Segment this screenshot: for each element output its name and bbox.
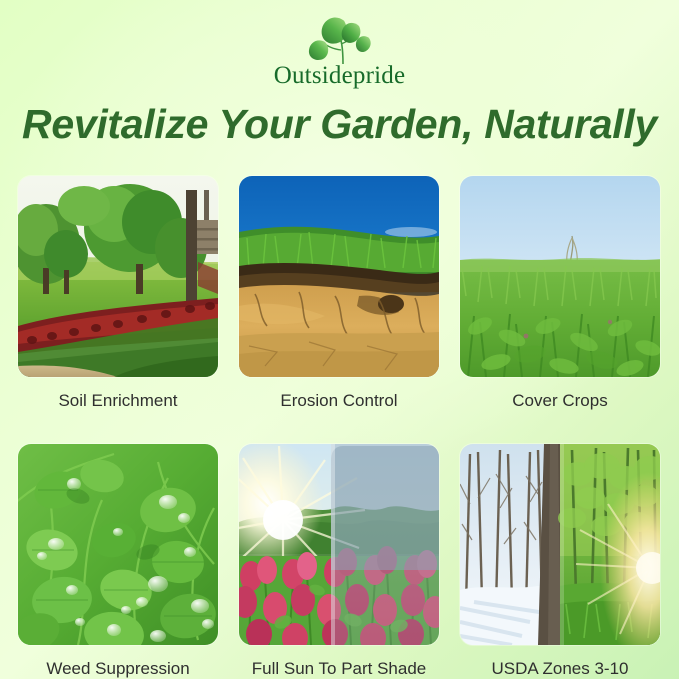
- feature-image-weed-suppression: [18, 444, 218, 645]
- feature-image-erosion-control: [239, 176, 439, 377]
- feature-image-soil-enrichment: [18, 176, 218, 377]
- promo-poster: Outsidepride Revitalize Your Garden, Nat…: [0, 0, 679, 679]
- feature-caption: Soil Enrichment: [18, 377, 218, 409]
- feature-card-full-sun-to-part-shade: Full Sun To Part Shade: [239, 444, 439, 677]
- leaf-sprig-icon: [303, 14, 377, 66]
- feature-caption: Erosion Control: [239, 377, 439, 409]
- feature-caption: Full Sun To Part Shade: [239, 645, 439, 677]
- feature-image-cover-crops: [460, 176, 660, 377]
- page-headline: Revitalize Your Garden, Naturally: [0, 101, 679, 148]
- feature-card-usda-zones: USDA Zones 3-10: [460, 444, 660, 677]
- feature-grid: Soil Enrichment: [18, 176, 661, 677]
- feature-card-erosion-control: Erosion Control: [239, 176, 439, 409]
- feature-image-full-sun-to-part-shade: [239, 444, 439, 645]
- feature-caption: Cover Crops: [460, 377, 660, 409]
- feature-card-cover-crops: Cover Crops: [460, 176, 660, 409]
- feature-image-usda-zones: [460, 444, 660, 645]
- feature-card-weed-suppression: Weed Suppression: [18, 444, 218, 677]
- feature-caption: USDA Zones 3-10: [460, 645, 660, 677]
- brand-lockup: Outsidepride: [0, 14, 679, 88]
- brand-name: Outsidepride: [274, 63, 406, 88]
- feature-caption: Weed Suppression: [18, 645, 218, 677]
- feature-card-soil-enrichment: Soil Enrichment: [18, 176, 218, 409]
